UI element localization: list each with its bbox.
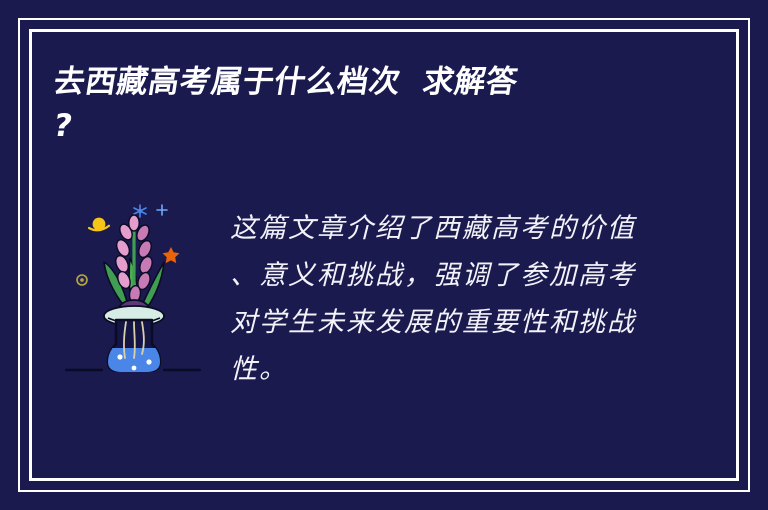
article-summary-line-4: 性。 [230, 346, 660, 393]
page-title: 去西藏高考属于什么档次 求解答 ? [54, 60, 694, 148]
article-summary: 这篇文章介绍了西藏高考的价值 、意义和挑战，强调了参加高考 对学生未来发展的重要… [230, 205, 660, 393]
yellow-planet-sparkle-icon [89, 218, 109, 231]
article-summary-line-2: 、意义和挑战，强调了参加高考 [230, 252, 660, 299]
orange-star-sparkle-icon [163, 247, 180, 263]
article-summary-line-3: 对学生未来发展的重要性和挑战 [230, 299, 660, 346]
article-cover-card: 去西藏高考属于什么档次 求解答 ? [0, 0, 768, 510]
hyacinth-illustration [58, 192, 210, 372]
page-title-line-1: 去西藏高考属于什么档次 求解答 [51, 60, 698, 104]
olive-dot-sparkle-icon [77, 275, 87, 285]
plus-sparkle-icon [157, 205, 167, 215]
page-title-line-2: ? [51, 104, 698, 148]
snowflake-sparkle-core [138, 209, 142, 213]
article-summary-line-1: 这篇文章介绍了西藏高考的价值 [230, 205, 660, 252]
